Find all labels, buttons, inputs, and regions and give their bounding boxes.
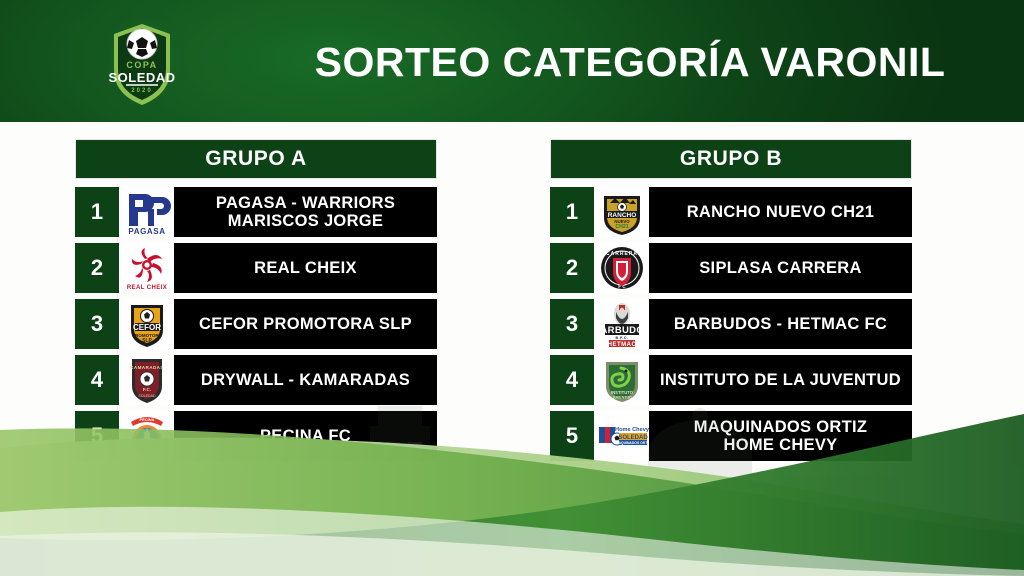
row-number: 4 xyxy=(550,355,594,405)
svg-text:F.C.: F.C. xyxy=(142,387,150,392)
svg-text:CH21: CH21 xyxy=(615,224,628,230)
table-row[interactable]: 3 BARBUDOS B.F.C. HETMAC xyxy=(550,299,912,349)
row-number: 1 xyxy=(75,187,119,237)
header-band: COPA SOLEDAD 2020 SORTEO CATEGORÍA VARON… xyxy=(0,0,1024,122)
barbudos-hetmac-logo: BARBUDOS B.F.C. HETMAC xyxy=(594,299,649,349)
row-number: 3 xyxy=(550,299,594,349)
team-name: PAGASA - WARRIORS MARISCOS JORGE xyxy=(174,187,437,237)
team-name-line1: PAGASA - WARRIORS xyxy=(216,194,395,212)
team-name: BARBUDOS - HETMAC FC xyxy=(649,299,912,349)
group-b-rows: 1 RANCHO NUEVO CH21 xyxy=(550,187,912,461)
group-b-table: GRUPO B 1 RANCHO NUEVO CH21 xyxy=(550,139,912,467)
team-name: SIPLASA CARRERA xyxy=(649,243,912,293)
svg-text:PAGASA: PAGASA xyxy=(128,227,165,236)
team-name-line1: MAQUINADOS ORTIZ xyxy=(694,418,867,436)
instituto-juventud-logo: INSTITUTO JUVENTUD xyxy=(594,355,649,405)
svg-text:KAMARADAS: KAMARADAS xyxy=(130,365,164,370)
pecina-fc-logo: PECINA Fútbol Club xyxy=(119,411,174,461)
svg-text:Fútbol Club: Fútbol Club xyxy=(134,453,159,458)
group-a-table: GRUPO A 1 PAGASA PAGASA - WARRIORS xyxy=(75,139,437,467)
table-row[interactable]: 4 KAMARADAS F.C. SOLEDAD DRYWALL - KAMAR xyxy=(75,355,437,405)
svg-text:JUVENTUD: JUVENTUD xyxy=(612,396,632,400)
row-number: 2 xyxy=(550,243,594,293)
team-name: RANCHO NUEVO CH21 xyxy=(649,187,912,237)
copa-soledad-logo: COPA SOLEDAD 2020 xyxy=(100,12,184,110)
table-row[interactable]: 1 PAGASA PAGASA - WARRIORS MARISCOS JORG… xyxy=(75,187,437,237)
table-row[interactable]: 4 INSTITUTO JUVENTUD INSTITUTO DE LA JUV… xyxy=(550,355,912,405)
svg-text:CEFOR: CEFOR xyxy=(133,323,161,332)
team-name: PECINA FC xyxy=(174,411,437,461)
team-name-line1: RANCHO NUEVO CH21 xyxy=(687,203,875,221)
rancho-nuevo-logo: RANCHO NUEVO CH21 xyxy=(594,187,649,237)
team-name: REAL CHEIX xyxy=(174,243,437,293)
cefor-promotora-slp-logo: CEFOR PROMOTORA ★ SLP ★ xyxy=(119,299,174,349)
row-number: 5 xyxy=(550,411,594,461)
group-a-header: GRUPO A xyxy=(75,139,437,179)
team-name-line1: BARBUDOS - HETMAC FC xyxy=(674,315,887,333)
svg-text:INSTITUTO: INSTITUTO xyxy=(610,390,633,395)
kamaradas-logo: KAMARADAS F.C. SOLEDAD xyxy=(119,355,174,405)
pagasa-logo: PAGASA xyxy=(119,187,174,237)
svg-text:SOLEDAD: SOLEDAD xyxy=(138,394,156,398)
team-name-line1: DRYWALL - KAMARADAS xyxy=(201,371,410,389)
svg-text:★ SLP ★: ★ SLP ★ xyxy=(136,338,158,344)
group-b-header: GRUPO B xyxy=(550,139,912,179)
svg-text:HETMAC: HETMAC xyxy=(607,342,636,348)
siplasa-carrera-logo: CARRERA F C xyxy=(594,243,649,293)
team-name-line1: REAL CHEIX xyxy=(254,259,357,277)
svg-text:F C: F C xyxy=(618,284,626,289)
svg-text:BARBUDOS: BARBUDOS xyxy=(597,325,647,336)
svg-text:PECINA: PECINA xyxy=(139,417,154,422)
svg-text:COPA: COPA xyxy=(126,60,157,70)
svg-text:RANCHO: RANCHO xyxy=(607,212,636,219)
team-name: DRYWALL - KAMARADAS xyxy=(174,355,437,405)
page-title: SORTEO CATEGORÍA VARONIL xyxy=(300,27,960,97)
table-row[interactable]: 2 xyxy=(75,243,437,293)
team-name: INSTITUTO DE LA JUVENTUD xyxy=(649,355,912,405)
svg-text:2020: 2020 xyxy=(131,88,152,94)
svg-text:SOLEDAD: SOLEDAD xyxy=(108,70,175,85)
table-row[interactable]: 5 Home Chevy SOLEDAD MAQUINADOS ORTIZ xyxy=(550,411,912,461)
svg-text:MAQUINADOS ORTIZ: MAQUINADOS ORTIZ xyxy=(615,441,648,445)
team-name-line1: SIPLASA CARRERA xyxy=(699,259,861,277)
team-name-line1: INSTITUTO DE LA JUVENTUD xyxy=(660,371,901,389)
home-chevy-logo: Home Chevy SOLEDAD MAQUINADOS ORTIZ xyxy=(594,411,649,461)
team-name: CEFOR PROMOTORA SLP xyxy=(174,299,437,349)
team-name-line2: HOME CHEVY xyxy=(724,436,838,454)
team-name: MAQUINADOS ORTIZ HOME CHEVY xyxy=(649,411,912,461)
real-cheix-logo: REAL CHEIX xyxy=(119,243,174,293)
team-name-line1: PECINA FC xyxy=(260,427,351,445)
table-row[interactable]: 1 RANCHO NUEVO CH21 xyxy=(550,187,912,237)
row-number: 5 xyxy=(75,411,119,461)
row-number: 2 xyxy=(75,243,119,293)
slide-canvas: COPA SOLEDAD 2020 SORTEO CATEGORÍA VARON… xyxy=(0,0,1024,576)
svg-text:B.F.C.: B.F.C. xyxy=(615,336,628,340)
table-row[interactable]: 2 CARRERA F C SIPLASA CARRERA xyxy=(550,243,912,293)
svg-text:CARRERA: CARRERA xyxy=(606,251,638,257)
team-name-line2: MARISCOS JORGE xyxy=(228,212,383,230)
svg-text:Home Chevy: Home Chevy xyxy=(615,427,649,433)
row-number: 1 xyxy=(550,187,594,237)
row-number: 4 xyxy=(75,355,119,405)
row-number: 3 xyxy=(75,299,119,349)
table-row[interactable]: 3 CEFOR PROMOTORA ★ SLP ★ C xyxy=(75,299,437,349)
group-a-rows: 1 PAGASA PAGASA - WARRIORS MARISCOS JORG… xyxy=(75,187,437,461)
team-name-line1: CEFOR PROMOTORA SLP xyxy=(199,315,412,333)
table-row[interactable]: 5 PECINA Fútbol Club PECIN xyxy=(75,411,437,461)
svg-text:REAL CHEIX: REAL CHEIX xyxy=(126,285,166,291)
